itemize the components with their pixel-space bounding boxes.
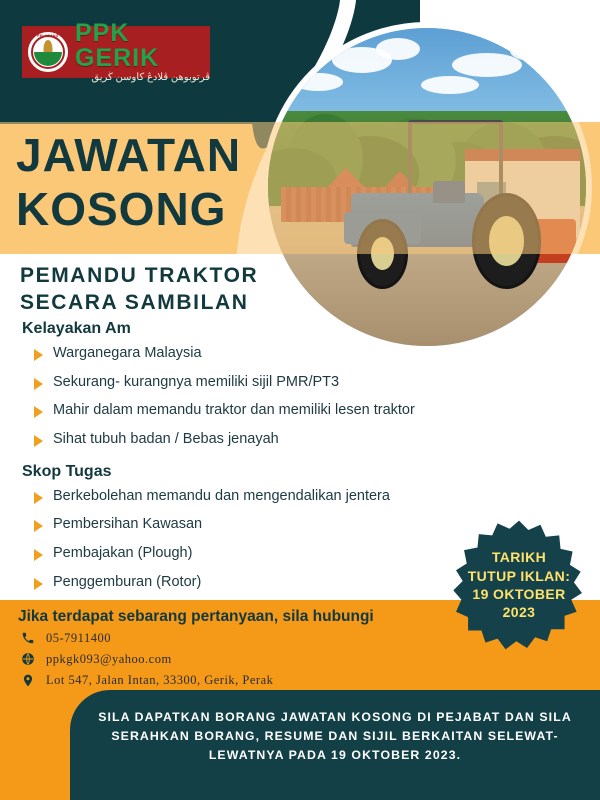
list-item-label: Berkebolehan memandu dan mengendalikan j… bbox=[53, 488, 390, 506]
list-item-label: Penggemburan (Rotor) bbox=[53, 574, 201, 592]
triangle-bullet-icon bbox=[34, 435, 43, 447]
subtitle-line-1: PEMANDU TRAKTOR bbox=[20, 263, 258, 290]
list-item: Warganegara Malaysia bbox=[22, 345, 578, 363]
cloud bbox=[293, 73, 343, 91]
triangle-bullet-icon bbox=[34, 520, 43, 532]
tractor-seat bbox=[433, 181, 465, 203]
badge-line-3: 19 OKTOBER bbox=[472, 585, 565, 603]
title-line-2: KOSONG bbox=[16, 182, 241, 236]
triangle-bullet-icon bbox=[34, 492, 43, 504]
poster-title: JAWATAN KOSONG bbox=[16, 128, 241, 237]
cloud bbox=[510, 41, 556, 61]
tractor-photo bbox=[262, 22, 592, 352]
contact-address-row: Lot 547, Jalan Intan, 33300, Gerik, Pera… bbox=[20, 672, 273, 688]
list-item: Berkebolehan memandu dan mengendalikan j… bbox=[22, 488, 578, 506]
list-item-label: Sihat tubuh badan / Bebas jenayah bbox=[53, 431, 279, 449]
triangle-bullet-icon bbox=[34, 578, 43, 590]
list-item: Sekurang- kurangnya memiliki sijil PMR/P… bbox=[22, 374, 578, 392]
peladang-emblem-icon: PELADANG bbox=[26, 30, 70, 74]
tractor-rear-wheel bbox=[472, 193, 542, 288]
closing-date-badge: TARIKH TUTUP IKLAN: 19 OKTOBER 2023 bbox=[452, 518, 586, 652]
poster-subtitle: PEMANDU TRAKTOR SECARA SAMBILAN bbox=[20, 263, 258, 317]
contact-address-value: Lot 547, Jalan Intan, 33300, Gerik, Pera… bbox=[46, 673, 273, 688]
list-item: Sihat tubuh badan / Bebas jenayah bbox=[22, 431, 578, 449]
triangle-bullet-icon bbox=[34, 378, 43, 390]
contact-phone-row: 05-7911400 bbox=[20, 630, 273, 646]
list-item-label: Mahir dalam memandu traktor dan memiliki… bbox=[53, 402, 415, 420]
badge-line-1: TARIKH bbox=[492, 548, 546, 566]
contact-email-value: ppkgk093@yahoo.com bbox=[46, 652, 172, 667]
triangle-bullet-icon bbox=[34, 549, 43, 561]
cloud bbox=[376, 38, 420, 60]
phone-icon bbox=[20, 630, 36, 646]
job-vacancy-poster: PELADANG PPK GERIK ڤرتوبوهن ڤلادڠ كاوسن … bbox=[0, 0, 600, 800]
triangle-bullet-icon bbox=[34, 349, 43, 361]
location-pin-icon bbox=[20, 672, 36, 688]
badge-text-block: TARIKH TUTUP IKLAN: 19 OKTOBER 2023 bbox=[452, 518, 586, 652]
logo-jawi-text: ڤرتوبوهن ڤلادڠ كاوسن ڬريق bbox=[75, 73, 210, 83]
list-item-label: Warganegara Malaysia bbox=[53, 345, 202, 363]
title-line-1: JAWATAN bbox=[16, 128, 241, 182]
section-heading-skop-tugas: Skop Tugas bbox=[22, 463, 578, 481]
contact-heading: Jika terdapat sebarang pertanyaan, sila … bbox=[18, 608, 374, 626]
ppk-gerik-logo: PELADANG PPK GERIK ڤرتوبوهن ڤلادڠ كاوسن … bbox=[22, 26, 210, 78]
badge-line-4: 2023 bbox=[503, 603, 536, 621]
section-heading-kelayakan: Kelayakan Am bbox=[22, 320, 578, 338]
list-item-label: Sekurang- kurangnya memiliki sijil PMR/P… bbox=[53, 374, 339, 392]
footer-instruction-text: SILA DAPATKAN BORANG JAWATAN KOSONG DI P… bbox=[70, 708, 600, 765]
contact-list: 05-7911400 ppkgk093@yahoo.com Lot 547, J… bbox=[20, 630, 273, 693]
contact-phone-value: 05-7911400 bbox=[46, 631, 111, 646]
emblem-label: PELADANG bbox=[28, 34, 68, 38]
contact-email-row: ppkgk093@yahoo.com bbox=[20, 651, 273, 667]
badge-line-2: TUTUP IKLAN: bbox=[468, 567, 571, 585]
cloud bbox=[421, 76, 479, 94]
globe-icon bbox=[20, 651, 36, 667]
triangle-bullet-icon bbox=[34, 406, 43, 418]
list-item-label: Pembajakan (Plough) bbox=[53, 545, 192, 563]
list-item-label: Pembersihan Kawasan bbox=[53, 516, 202, 534]
tractor-front-wheel bbox=[357, 219, 408, 289]
logo-name: PPK GERIK bbox=[75, 21, 210, 71]
subtitle-line-2: SECARA SAMBILAN bbox=[20, 290, 258, 317]
list-item: Mahir dalam memandu traktor dan memiliki… bbox=[22, 402, 578, 420]
